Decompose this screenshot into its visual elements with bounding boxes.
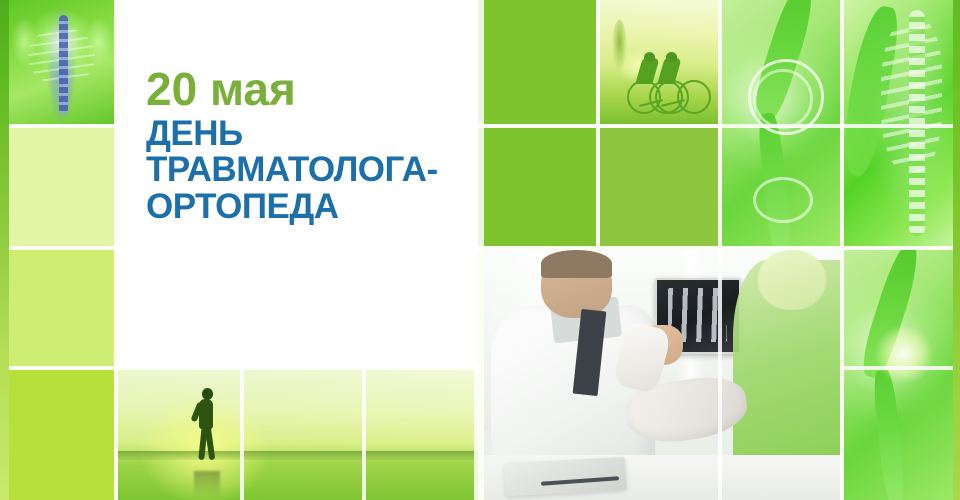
seam-v5 <box>840 0 844 500</box>
spine-column-shape <box>59 15 68 114</box>
event-title: ДЕНЬ ТРАВМАТОЛОГА- ОРТОПЕДА <box>146 116 476 225</box>
tile-green-r2c5 <box>478 128 596 246</box>
knee-pain-image <box>844 250 953 500</box>
seam-h4 <box>840 366 960 370</box>
event-date: 20 мая <box>146 66 476 112</box>
spine-shape <box>909 10 925 236</box>
tree-shape <box>612 20 627 72</box>
clinic-image <box>484 250 840 500</box>
shoulder-right-shape <box>85 17 112 67</box>
headline-card: 20 мая ДЕНЬ ТРАВМАТОЛОГА- ОРТОПЕДА <box>118 0 478 368</box>
tile-lime-r3c1 <box>9 250 114 366</box>
knee-joint-image <box>722 0 840 246</box>
poster-canvas: 20 мая ДЕНЬ ТРАВМАТОЛОГА- ОРТОПЕДА <box>0 0 960 500</box>
calf-shape <box>872 369 907 500</box>
tile-green-r1c5 <box>478 0 596 124</box>
runner-silhouette <box>194 388 220 484</box>
seam-v7 <box>240 368 244 500</box>
tile-lime-r4c1 <box>9 370 114 500</box>
doctor-hair <box>541 250 612 278</box>
joint-highlight-ring-inner <box>753 69 813 129</box>
horizon-line <box>118 451 478 460</box>
spine-xray-image <box>9 0 114 124</box>
ankle-highlight-ring <box>753 177 813 223</box>
runner-image <box>118 370 478 500</box>
headline-block: 20 мая ДЕНЬ ТРАВМАТОЛОГА- ОРТОПЕДА <box>146 66 476 225</box>
cyclists-image <box>600 0 718 124</box>
tile-green-r2c6 <box>600 128 718 246</box>
seam-v4 <box>718 0 722 500</box>
left-edge-strip <box>0 0 9 500</box>
seam-v6 <box>362 368 366 500</box>
title-line-1: ДЕНЬ <box>146 116 476 152</box>
patient-head <box>758 250 826 310</box>
title-line-2: ТРАВМАТОЛОГА- <box>146 152 476 188</box>
right-edge-strip <box>953 0 960 500</box>
title-line-3: ОРТОПЕДА <box>146 189 476 225</box>
pain-glow <box>875 325 933 383</box>
green-wash-overlay <box>118 370 478 500</box>
torso-xray-image <box>844 0 953 246</box>
